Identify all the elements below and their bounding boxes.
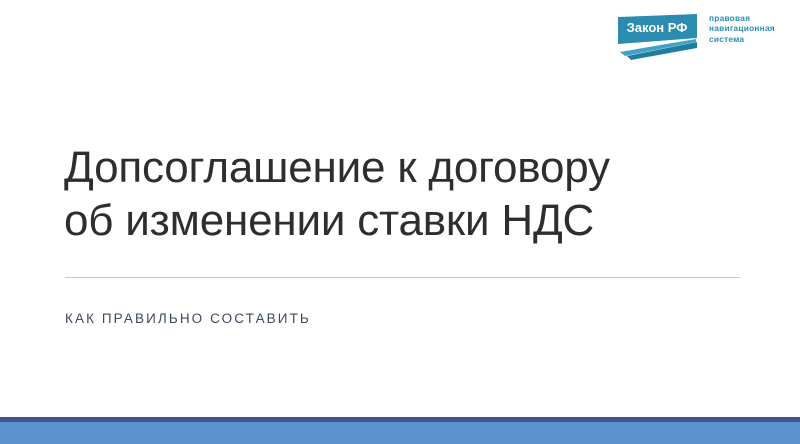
parallelogram-swoosh-icon: Закон РФ [617,11,701,61]
slide-title-line-1: Допсоглашение к договору [64,141,754,194]
slide-title-line-2: об изменении ставки НДС [64,194,754,247]
logo-tagline-line-3: система [709,34,791,44]
slide-title: Допсоглашение к договору об изменении ст… [64,141,754,247]
presentation-slide: Закон РФ правовая навигационная система … [0,0,800,444]
logo-tagline: правовая навигационная система [709,13,791,44]
footer-accent-bar-blue [0,422,800,444]
slide-subtitle: КАК ПРАВИЛЬНО СОСТАВИТЬ [65,311,311,326]
brand-logo: Закон РФ правовая навигационная система [617,11,789,63]
logo-tagline-line-2: навигационная [709,23,791,33]
logo-brand-text: Закон РФ [627,20,688,35]
logo-tagline-line-1: правовая [709,13,791,23]
title-divider [65,277,740,278]
